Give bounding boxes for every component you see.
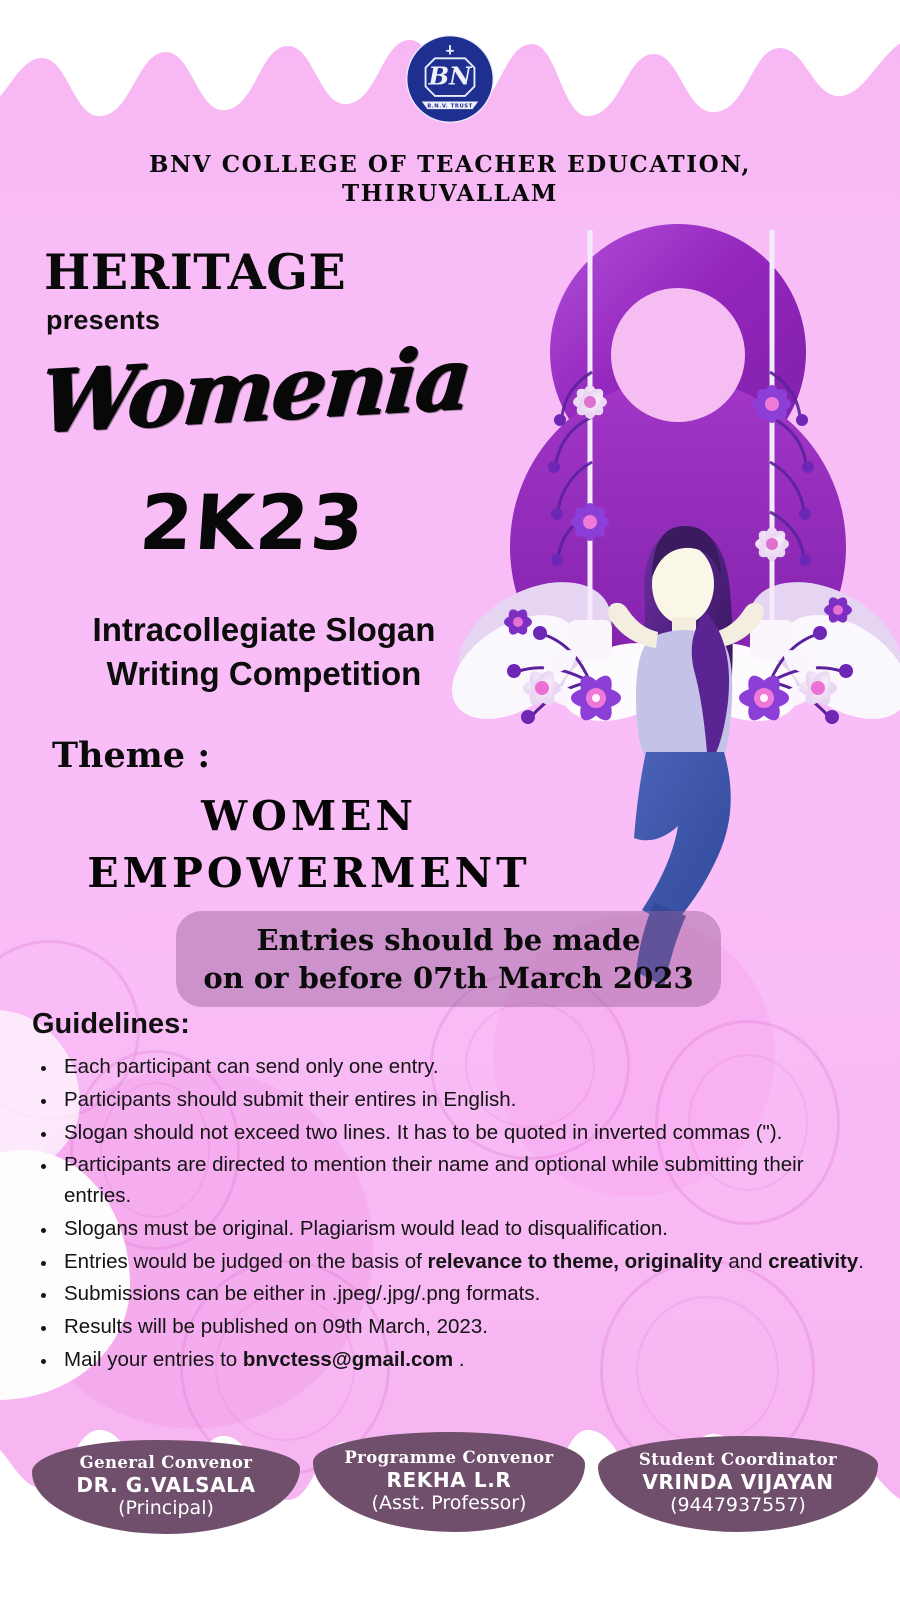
logo-ribbon-text: B.N.V. TRUST [427,104,473,110]
event-year: 2K23 [137,478,369,567]
guideline-item: Mail your entries to bnvctess@gmail.com … [58,1345,876,1376]
theme-value-line2: EMPOWERMENT [44,845,574,902]
organizer-name: HERITAGE [44,248,346,297]
competition-title-line2: Writing Competition [44,652,484,696]
poster-canvas: BN B.N.V. TRUST BNV COLLEGE OF TEACHER E… [0,0,900,1600]
guideline-item: Results will be published on 09th March,… [58,1312,876,1343]
contact-name: VRINDA VIJAYAN [642,1471,833,1494]
guideline-item: Participants are directed to mention the… [58,1150,876,1212]
contact-name: REKHA L.R [387,1469,512,1492]
contact-detail: (9447937557) [670,1494,806,1517]
guidelines-heading: Guidelines: [32,1008,190,1041]
competition-title-line1: Intracollegiate Slogan [44,608,484,652]
college-logo: BN B.N.V. TRUST [403,32,497,126]
competition-title: Intracollegiate Slogan Writing Competiti… [44,608,484,696]
contact-badges: General ConvenorDR. G.VALSALA(Principal)… [0,1440,900,1540]
guidelines-list: Each participant can send only one entry… [58,1052,876,1378]
contact-role: Student Coordinator [639,1450,837,1469]
guideline-item: Slogans must be original. Plagiarism wou… [58,1214,876,1245]
contact-badge: Programme ConvenorREKHA L.R(Asst. Profes… [313,1432,585,1532]
theme-value-line1: WOMEN [44,788,574,845]
theme-value: WOMEN EMPOWERMENT [44,788,574,901]
contact-role: General Convenor [80,1453,253,1472]
guideline-item: Entries would be judged on the basis of … [58,1247,876,1278]
deadline-line2: on or before 07th March 2023 [203,959,693,997]
deadline-banner: Entries should be made on or before 07th… [176,911,721,1007]
contact-badge: General ConvenorDR. G.VALSALA(Principal) [32,1440,300,1534]
theme-label: Theme : [52,735,210,776]
guideline-item: Slogan should not exceed two lines. It h… [58,1118,876,1149]
college-name-line1: BNV COLLEGE OF TEACHER EDUCATION, [0,150,900,179]
college-name: BNV COLLEGE OF TEACHER EDUCATION, THIRUV… [0,150,900,209]
contact-badge: Student CoordinatorVRINDA VIJAYAN(944793… [598,1436,878,1532]
guideline-item: Each participant can send only one entry… [58,1052,876,1083]
contact-detail: (Principal) [118,1497,214,1520]
contact-detail: (Asst. Professor) [372,1492,527,1515]
logo-monogram: BN [428,62,474,91]
guideline-item: Participants should submit their entires… [58,1085,876,1116]
deadline-line1: Entries should be made [256,921,640,959]
contact-role: Programme Convenor [344,1448,553,1467]
guideline-item: Submissions can be either in .jpeg/.jpg/… [58,1279,876,1310]
presents-label: presents [46,305,160,336]
college-name-line2: THIRUVALLAM [0,179,900,208]
contact-name: DR. G.VALSALA [76,1474,255,1497]
